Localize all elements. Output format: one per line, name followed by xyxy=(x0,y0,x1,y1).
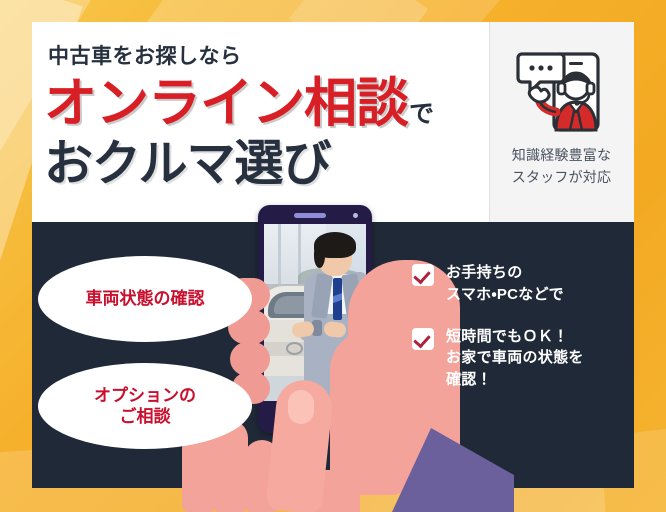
callout-vehicle-condition: 車両状態の確認 xyxy=(38,256,252,342)
checklist-line: 確認！ xyxy=(446,369,584,391)
kicker-text: 中古車をお探しなら xyxy=(48,40,242,70)
checklist-line: お家で車両の状態を xyxy=(446,347,584,369)
checklist-item-text: 短時間でもＯＫ！ お家で車両の状態を 確認！ xyxy=(446,326,584,391)
staff-caption: 知識経験豊富な スタッフが対応 xyxy=(489,145,634,188)
phone-speaker xyxy=(294,213,326,218)
staff-caption-line2: スタッフが対応 xyxy=(489,167,634,189)
online-consultation-banner: 中古車をお探しなら オンライン相談 で おクルマ選び 知識経験豊 xyxy=(0,0,666,512)
photo-staff-hair-side xyxy=(314,244,325,268)
photo-pillar xyxy=(278,224,281,290)
callout-line: 車両状態の確認 xyxy=(86,288,205,309)
main-headline: オンライン相談 で xyxy=(44,77,434,130)
checkmark-icon xyxy=(412,328,434,350)
hand-finger xyxy=(230,342,270,376)
checkmark-icon xyxy=(412,264,434,286)
callout-options-consult: オプションの ご相談 xyxy=(38,363,252,449)
operator-headset-icon xyxy=(512,42,612,142)
checklist-line: お手持ちの xyxy=(446,262,564,284)
checklist-item-text: お手持ちの スマホ・PCなどで xyxy=(446,262,564,306)
headline-main-text: オンライン相談 xyxy=(44,77,408,130)
checklist-item: お手持ちの スマホ・PCなどで xyxy=(412,262,622,306)
checklist-line: スマホ・PCなどで xyxy=(446,284,564,306)
photo-car-emblem xyxy=(286,342,303,355)
callout-line: オプションの xyxy=(94,385,196,406)
checklist-item: 短時間でもＯＫ！ お家で車両の状態を 確認！ xyxy=(412,326,622,391)
headline-sub-text: おクルマ選び xyxy=(44,140,331,189)
headline-suffix-text: で xyxy=(409,102,434,130)
checklist-line: 短時間でもＯＫ！ xyxy=(446,326,584,348)
staff-caption-line1: 知識経験豊富な xyxy=(489,145,634,167)
hand-thumbnail xyxy=(288,390,314,424)
photo-staff-tie xyxy=(333,278,342,320)
panel-divider xyxy=(489,22,490,222)
camera-dot-icon xyxy=(353,213,358,218)
benefits-checklist: お手持ちの スマホ・PCなどで 短時間でもＯＫ！ お家で車両の状態を 確認！ xyxy=(412,262,622,411)
callout-line: ご相談 xyxy=(120,406,171,427)
